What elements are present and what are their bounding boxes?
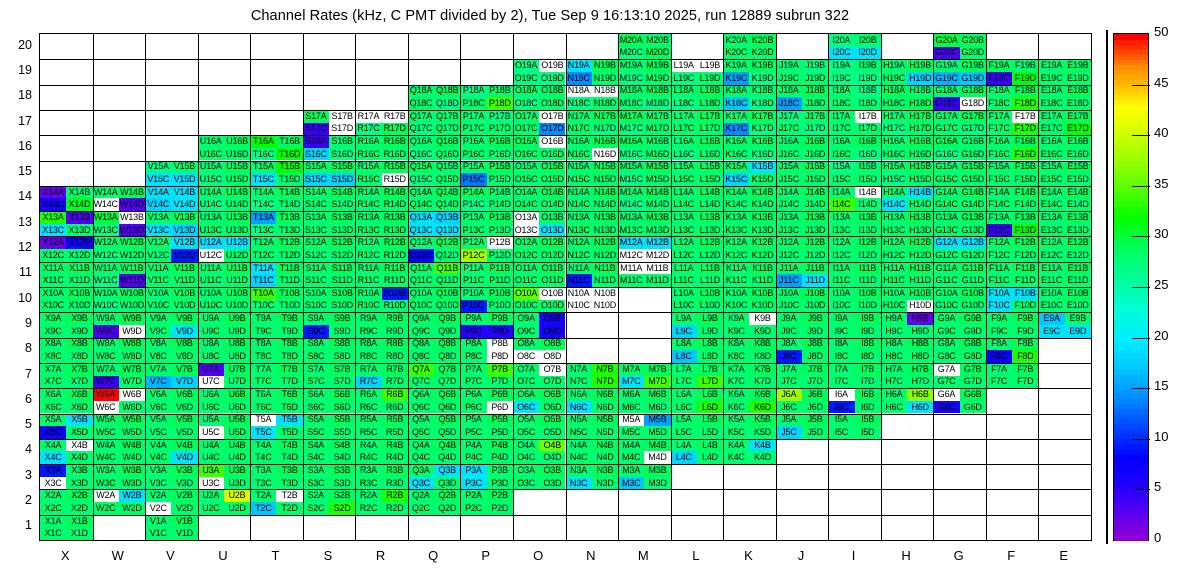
pmt-cell-W3[interactable]: W3AW3BW3CW3D [93,464,146,489]
channel-L13A[interactable]: L13A [671,211,697,224]
pmt-cell-H13[interactable]: H13AH13BH13CH13D [881,211,934,236]
channel-K20C[interactable]: K20C [723,47,749,60]
channel-V4D[interactable]: V4D [171,451,197,464]
channel-H15B[interactable]: H15B [907,161,933,174]
channel-Q6D[interactable]: Q6D [434,401,460,414]
channel-S4D[interactable]: S4D [329,451,355,464]
channel-W8A[interactable]: W8A [93,338,119,351]
channel-I19D[interactable]: I19D [855,72,881,85]
pmt-cell-R10[interactable]: R10AR10BR10CR10D [355,287,408,312]
channel-H8B[interactable]: H8B [907,338,933,351]
channel-K6A[interactable]: K6A [723,388,749,401]
channel-M14A[interactable]: M14A [618,186,644,199]
pmt-cell-J6[interactable]: J6AJ6BJ6CJ6D [776,388,829,413]
channel-V14C[interactable]: V14C [145,198,171,211]
channel-I11D[interactable]: I11D [855,274,881,287]
channel-O5C[interactable]: O5C [513,426,539,439]
channel-R11B[interactable]: R11B [382,262,408,275]
pmt-cell-X6[interactable]: X6AX6BX6CX6D [40,388,93,413]
pmt-cell-O13[interactable]: O13AO13BO13CO13D [513,211,566,236]
pmt-cell-U14[interactable]: U14AU14BU14CU14D [198,186,251,211]
channel-T12C[interactable]: T12C [250,249,276,262]
pmt-cell-H17[interactable]: H17AH17BH17CH17D [881,110,934,135]
channel-Q7D[interactable]: Q7D [434,376,460,389]
channel-R10C[interactable]: R10C [355,300,381,313]
channel-M18D[interactable]: M18D [644,97,670,110]
pmt-cell-Q5[interactable]: Q5AQ5BQ5CQ5D [408,414,461,439]
channel-W3D[interactable]: W3D [119,477,145,490]
channel-V9A[interactable]: V9A [145,312,171,325]
channel-G12A[interactable]: G12A [933,236,959,249]
channel-K7C[interactable]: K7C [723,376,749,389]
channel-Q17B[interactable]: Q17B [434,110,460,123]
channel-N7B[interactable]: N7B [592,363,618,376]
channel-P15D[interactable]: P15D [487,173,513,186]
channel-G13D[interactable]: G13D [960,224,986,237]
pmt-cell-R9[interactable]: R9AR9BR9CR9D [355,312,408,337]
channel-N15A[interactable]: N15A [566,161,592,174]
channel-L16C[interactable]: L16C [671,148,697,161]
pmt-cell-V10[interactable]: V10AV10BV10CV10D [145,287,198,312]
pmt-cell-H11[interactable]: H11AH11BH11CH11D [881,262,934,287]
pmt-cell-I11[interactable]: I11AI11BI11CI11D [828,262,881,287]
channel-U14C[interactable]: U14C [198,198,224,211]
pmt-cell-F18[interactable]: F18AF18BF18CF18D [986,85,1039,110]
channel-U5C[interactable]: U5C [198,426,224,439]
pmt-cell-R16[interactable]: R16AR16BR16CR16D [355,135,408,160]
pmt-cell-V2[interactable]: V2AV2BV2CV2D [145,489,198,514]
channel-R12D[interactable]: R12D [382,249,408,262]
channel-N18D[interactable]: N18D [592,97,618,110]
channel-L19C[interactable]: L19C [671,72,697,85]
channel-K6B[interactable]: K6B [749,388,775,401]
channel-O16A[interactable]: O16A [513,135,539,148]
channel-P17D[interactable]: P17D [487,123,513,136]
pmt-cell-M6[interactable]: M6AM6BM6CM6D [618,388,671,413]
pmt-cell-H10[interactable]: H10AH10BH10CH10D [881,287,934,312]
channel-X6C[interactable]: X6C [40,401,66,414]
channel-J11D[interactable]: J11D [802,274,828,287]
channel-F18C[interactable]: F18C [986,97,1012,110]
channel-K5B[interactable]: K5B [749,414,775,427]
channel-X7B[interactable]: X7B [66,363,92,376]
channel-S16D[interactable]: S16D [329,148,355,161]
channel-G10B[interactable]: G10B [960,287,986,300]
channel-V5D[interactable]: V5D [171,426,197,439]
channel-F19D[interactable]: F19D [1012,72,1038,85]
channel-T13A[interactable]: T13A [250,211,276,224]
channel-W9B[interactable]: W9B [119,312,145,325]
channel-M19D[interactable]: M19D [644,72,670,85]
channel-T14A[interactable]: T14A [250,186,276,199]
channel-V7D[interactable]: V7D [171,376,197,389]
channel-E16A[interactable]: E16A [1038,135,1064,148]
channel-G11D[interactable]: G11D [960,274,986,287]
channel-U12A[interactable]: U12A [198,236,224,249]
channel-E9C[interactable]: E9C [1038,325,1064,338]
channel-K11B[interactable]: K11B [749,262,775,275]
channel-Q12C[interactable]: Q12C [408,249,434,262]
pmt-cell-S9[interactable]: S9AS9BS9CS9D [303,312,356,337]
pmt-cell-E14[interactable]: E14AE14BE14CE14D [1038,186,1091,211]
pmt-cell-F19[interactable]: F19AF19BF19CF19D [986,59,1039,84]
channel-H8C[interactable]: H8C [881,350,907,363]
channel-P12B[interactable]: P12B [487,236,513,249]
channel-F14B[interactable]: F14B [1012,186,1038,199]
channel-W8B[interactable]: W8B [119,338,145,351]
channel-P11C[interactable]: P11C [460,274,486,287]
channel-T3D[interactable]: T3D [276,477,302,490]
channel-M11C[interactable]: M11C [618,274,644,287]
channel-P4A[interactable]: P4A [460,439,486,452]
channel-X5A[interactable]: X5A [40,414,66,427]
pmt-cell-O3[interactable]: O3AO3BO3CO3D [513,464,566,489]
channel-T10B[interactable]: T10B [276,287,302,300]
channel-U8B[interactable]: U8B [224,338,250,351]
channel-S13B[interactable]: S13B [329,211,355,224]
channel-Q14C[interactable]: Q14C [408,198,434,211]
channel-E18B[interactable]: E18B [1065,85,1091,98]
channel-E12C[interactable]: E12C [1038,249,1064,262]
pmt-cell-X4[interactable]: X4AX4BX4CX4D [40,439,93,464]
channel-S11B[interactable]: S11B [329,262,355,275]
channel-F16C[interactable]: F16C [986,148,1012,161]
pmt-cell-H8[interactable]: H8AH8BH8CH8D [881,338,934,363]
pmt-cell-V7[interactable]: V7AV7BV7CV7D [145,363,198,388]
channel-Q13D[interactable]: Q13D [434,224,460,237]
channel-O11A[interactable]: O11A [513,262,539,275]
channel-U15C[interactable]: U15C [198,173,224,186]
pmt-cell-G7[interactable]: G7AG7BG7CG7D [933,363,986,388]
channel-E10D[interactable]: E10D [1065,300,1091,313]
channel-J15B[interactable]: J15B [802,161,828,174]
channel-R10B[interactable]: R10B [382,287,408,300]
pmt-cell-H6[interactable]: H6AH6BH6CH6D [881,388,934,413]
channel-I19C[interactable]: I19C [828,72,854,85]
channel-W4C[interactable]: W4C [93,451,119,464]
pmt-cell-H9[interactable]: H9AH9BH9CH9D [881,312,934,337]
channel-P9A[interactable]: P9A [460,312,486,325]
channel-I14D[interactable]: I14D [855,198,881,211]
pmt-cell-S12[interactable]: S12AS12BS12CS12D [303,236,356,261]
channel-H17D[interactable]: H17D [907,123,933,136]
pmt-cell-P14[interactable]: P14AP14BP14CP14D [460,186,513,211]
channel-V7A[interactable]: V7A [145,363,171,376]
channel-M11B[interactable]: M11B [644,262,670,275]
channel-K17B[interactable]: K17B [749,110,775,123]
pmt-cell-U5[interactable]: U5AU5BU5CU5D [198,414,251,439]
channel-P13A[interactable]: P13A [460,211,486,224]
channel-I5B[interactable]: I5B [855,414,881,427]
channel-P6B[interactable]: P6B [487,388,513,401]
channel-Q4B[interactable]: Q4B [434,439,460,452]
channel-V3A[interactable]: V3A [145,464,171,477]
channel-S16A[interactable]: S16A [303,135,329,148]
channel-L15A[interactable]: L15A [671,161,697,174]
channel-P5A[interactable]: P5A [460,414,486,427]
channel-O19D[interactable]: O19D [539,72,565,85]
channel-I19B[interactable]: I19B [855,59,881,72]
channel-O6D[interactable]: O6D [539,401,565,414]
channel-E18D[interactable]: E18D [1065,97,1091,110]
channel-E13C[interactable]: E13C [1038,224,1064,237]
pmt-cell-V1[interactable]: V1AV1BV1CV1D [145,515,198,540]
pmt-cell-S7[interactable]: S7AS7BS7CS7D [303,363,356,388]
channel-N6A[interactable]: N6A [566,388,592,401]
channel-Q6C[interactable]: Q6C [408,401,434,414]
channel-V5C[interactable]: V5C [145,426,171,439]
channel-K8B[interactable]: K8B [749,338,775,351]
channel-J6D[interactable]: J6D [802,401,828,414]
channel-R3A[interactable]: R3A [355,464,381,477]
channel-E15C[interactable]: E15C [1038,173,1064,186]
channel-X14C[interactable]: X14C [40,198,66,211]
channel-R2D[interactable]: R2D [382,502,408,515]
pmt-cell-O15[interactable]: O15AO15BO15CO15D [513,161,566,186]
pmt-cell-X13[interactable]: X13AX13BX13CX13D [40,211,93,236]
channel-G12B[interactable]: G12B [960,236,986,249]
channel-N15D[interactable]: N15D [592,173,618,186]
channel-Q5B[interactable]: Q5B [434,414,460,427]
pmt-cell-N17[interactable]: N17AN17BN17CN17D [566,110,619,135]
channel-Q11B[interactable]: Q11B [434,262,460,275]
channel-J18C[interactable]: J18C [776,97,802,110]
channel-R16A[interactable]: R16A [355,135,381,148]
channel-O8C[interactable]: O8C [513,350,539,363]
channel-P8A[interactable]: P8A [460,338,486,351]
channel-H9C[interactable]: H9C [881,325,907,338]
channel-I13B[interactable]: I13B [855,211,881,224]
pmt-cell-Q15[interactable]: Q15AQ15BQ15CQ15D [408,161,461,186]
pmt-cell-G16[interactable]: G16AG16BG16CG16D [933,135,986,160]
channel-J5B[interactable]: J5B [802,414,828,427]
channel-E15B[interactable]: E15B [1065,161,1091,174]
channel-O11D[interactable]: O11D [539,274,565,287]
channel-O9D[interactable]: O9D [539,325,565,338]
channel-U5A[interactable]: U5A [198,414,224,427]
channel-N19C[interactable]: N19C [566,72,592,85]
channel-Q15B[interactable]: Q15B [434,161,460,174]
channel-V8B[interactable]: V8B [171,338,197,351]
channel-M20D[interactable]: M20D [644,47,670,60]
channel-P9B[interactable]: P9B [487,312,513,325]
channel-O12D[interactable]: O12D [539,249,565,262]
channel-T7A[interactable]: T7A [250,363,276,376]
channel-N17D[interactable]: N17D [592,123,618,136]
channel-W6C[interactable]: W6C [93,401,119,414]
channel-U6C[interactable]: U6C [198,401,224,414]
channel-R4A[interactable]: R4A [355,439,381,452]
channel-G9D[interactable]: G9D [960,325,986,338]
channel-F18B[interactable]: F18B [1012,85,1038,98]
channel-S15C[interactable]: S15C [303,173,329,186]
pmt-cell-G17[interactable]: G17AG17BG17CG17D [933,110,986,135]
channel-Q8D[interactable]: Q8D [434,350,460,363]
channel-R16C[interactable]: R16C [355,148,381,161]
channel-K5C[interactable]: K5C [723,426,749,439]
channel-G14C[interactable]: G14C [933,198,959,211]
channel-E10C[interactable]: E10C [1038,300,1064,313]
pmt-cell-V15[interactable]: V15AV15BV15CV15D [145,161,198,186]
pmt-cell-Q14[interactable]: Q14AQ14BQ14CQ14D [408,186,461,211]
channel-N14A[interactable]: N14A [566,186,592,199]
channel-P18A[interactable]: P18A [460,85,486,98]
pmt-cell-N13[interactable]: N13AN13BN13CN13D [566,211,619,236]
channel-K11A[interactable]: K11A [723,262,749,275]
channel-N19D[interactable]: N19D [592,72,618,85]
channel-R13A[interactable]: R13A [355,211,381,224]
pmt-cell-J8[interactable]: J8AJ8BJ8CJ8D [776,338,829,363]
pmt-cell-F11[interactable]: F11AF11BF11CF11D [986,262,1039,287]
channel-M19B[interactable]: M19B [644,59,670,72]
channel-S17B[interactable]: S17B [329,110,355,123]
channel-M13A[interactable]: M13A [618,211,644,224]
channel-Q9B[interactable]: Q9B [434,312,460,325]
channel-L7D[interactable]: L7D [697,376,723,389]
channel-T16B[interactable]: T16B [276,135,302,148]
channel-G18A[interactable]: G18A [933,85,959,98]
channel-Q15D[interactable]: Q15D [434,173,460,186]
channel-F10B[interactable]: F10B [1012,287,1038,300]
channel-Q8A[interactable]: Q8A [408,338,434,351]
channel-N15C[interactable]: N15C [566,173,592,186]
channel-J16D[interactable]: J16D [802,148,828,161]
channel-S7C[interactable]: S7C [303,376,329,389]
channel-F7B[interactable]: F7B [1012,363,1038,376]
channel-O18A[interactable]: O18A [513,85,539,98]
channel-G8D[interactable]: G8D [960,350,986,363]
channel-H12A[interactable]: H12A [881,236,907,249]
channel-O17A[interactable]: O17A [513,110,539,123]
pmt-cell-L6[interactable]: L6AL6BL6CL6D [671,388,724,413]
channel-X12C[interactable]: X12C [40,249,66,262]
channel-G10A[interactable]: G10A [933,287,959,300]
channel-J19C[interactable]: J19C [776,72,802,85]
pmt-cell-Q11[interactable]: Q11AQ11BQ11CQ11D [408,262,461,287]
channel-T2D[interactable]: T2D [276,502,302,515]
channel-Q12B[interactable]: Q12B [434,236,460,249]
channel-O6A[interactable]: O6A [513,388,539,401]
channel-V15D[interactable]: V15D [171,173,197,186]
channel-P16C[interactable]: P16C [460,148,486,161]
channel-M18B[interactable]: M18B [644,85,670,98]
channel-V4A[interactable]: V4A [145,439,171,452]
pmt-cell-T4[interactable]: T4AT4BT4CT4D [250,439,303,464]
pmt-cell-S16[interactable]: S16AS16BS16CS16D [303,135,356,160]
pmt-cell-O11[interactable]: O11AO11BO11CO11D [513,262,566,287]
channel-E14C[interactable]: E14C [1038,198,1064,211]
channel-T14D[interactable]: T14D [276,198,302,211]
channel-G9A[interactable]: G9A [933,312,959,325]
channel-M11A[interactable]: M11A [618,262,644,275]
channel-M12C[interactable]: M12C [618,249,644,262]
channel-H6A[interactable]: H6A [881,388,907,401]
channel-O13B[interactable]: O13B [539,211,565,224]
pmt-cell-V6[interactable]: V6AV6BV6CV6D [145,388,198,413]
pmt-cell-L18[interactable]: L18AL18BL18CL18D [671,85,724,110]
channel-P4B[interactable]: P4B [487,439,513,452]
channel-R5D[interactable]: R5D [382,426,408,439]
pmt-cell-P4[interactable]: P4AP4BP4CP4D [460,439,513,464]
channel-H12B[interactable]: H12B [907,236,933,249]
channel-E17D[interactable]: E17D [1065,123,1091,136]
channel-N5C[interactable]: N5C [566,426,592,439]
channel-Q3A[interactable]: Q3A [408,464,434,477]
channel-W12B[interactable]: W12B [119,236,145,249]
channel-I10B[interactable]: I10B [855,287,881,300]
channel-Q3B[interactable]: Q3B [434,464,460,477]
channel-H19A[interactable]: H19A [881,59,907,72]
channel-P13D[interactable]: P13D [487,224,513,237]
channel-Q17C[interactable]: Q17C [408,123,434,136]
pmt-cell-J5[interactable]: J5AJ5BJ5CJ5D [776,414,829,439]
channel-G8C[interactable]: G8C [933,350,959,363]
channel-L14A[interactable]: L14A [671,186,697,199]
channel-X14A[interactable]: X14A [40,186,66,199]
channel-J15C[interactable]: J15C [776,173,802,186]
channel-T14C[interactable]: T14C [250,198,276,211]
pmt-cell-S5[interactable]: S5AS5BS5CS5D [303,414,356,439]
channel-M15A[interactable]: M15A [618,161,644,174]
channel-F18A[interactable]: F18A [986,85,1012,98]
channel-T15B[interactable]: T15B [276,161,302,174]
channel-Q10D[interactable]: Q10D [434,300,460,313]
channel-E13B[interactable]: E13B [1065,211,1091,224]
channel-S3D[interactable]: S3D [329,477,355,490]
pmt-cell-L16[interactable]: L16AL16BL16CL16D [671,135,724,160]
channel-L4B[interactable]: L4B [697,439,723,452]
channel-N6B[interactable]: N6B [592,388,618,401]
channel-V2D[interactable]: V2D [171,502,197,515]
channel-J18B[interactable]: J18B [802,85,828,98]
channel-S6D[interactable]: S6D [329,401,355,414]
channel-L17C[interactable]: L17C [671,123,697,136]
pmt-cell-W11[interactable]: W11AW11BW11CW11D [93,262,146,287]
channel-K7D[interactable]: K7D [749,376,775,389]
channel-L5D[interactable]: L5D [697,426,723,439]
channel-T5D[interactable]: T5D [276,426,302,439]
pmt-cell-I17[interactable]: I17AI17BI17CI17D [828,110,881,135]
channel-O4C[interactable]: O4C [513,451,539,464]
channel-H10B[interactable]: H10B [907,287,933,300]
channel-F10C[interactable]: F10C [986,300,1012,313]
channel-K15D[interactable]: K15D [749,173,775,186]
channel-G13C[interactable]: G13C [933,224,959,237]
channel-T9D[interactable]: T9D [276,325,302,338]
channel-T13C[interactable]: T13C [250,224,276,237]
channel-T11C[interactable]: T11C [250,274,276,287]
channel-P11D[interactable]: P11D [487,274,513,287]
channel-R16D[interactable]: R16D [382,148,408,161]
channel-X9C[interactable]: X9C [40,325,66,338]
channel-S15B[interactable]: S15B [329,161,355,174]
pmt-cell-N11[interactable]: N11AN11BN11CN11D [566,262,619,287]
channel-M4B[interactable]: M4B [644,439,670,452]
channel-V7B[interactable]: V7B [171,363,197,376]
channel-Q9C[interactable]: Q9C [408,325,434,338]
channel-U6A[interactable]: U6A [198,388,224,401]
channel-U6D[interactable]: U6D [224,401,250,414]
channel-P10A[interactable]: P10A [460,287,486,300]
pmt-cell-E9[interactable]: E9AE9BE9CE9D [1038,312,1091,337]
channel-H11A[interactable]: H11A [881,262,907,275]
channel-K5A[interactable]: K5A [723,414,749,427]
channel-P18D[interactable]: P18D [487,97,513,110]
channel-F15D[interactable]: F15D [1012,173,1038,186]
pmt-cell-O16[interactable]: O16AO16BO16CO16D [513,135,566,160]
channel-F8A[interactable]: F8A [986,338,1012,351]
pmt-cell-O8[interactable]: O8AO8BO8CO8D [513,338,566,363]
